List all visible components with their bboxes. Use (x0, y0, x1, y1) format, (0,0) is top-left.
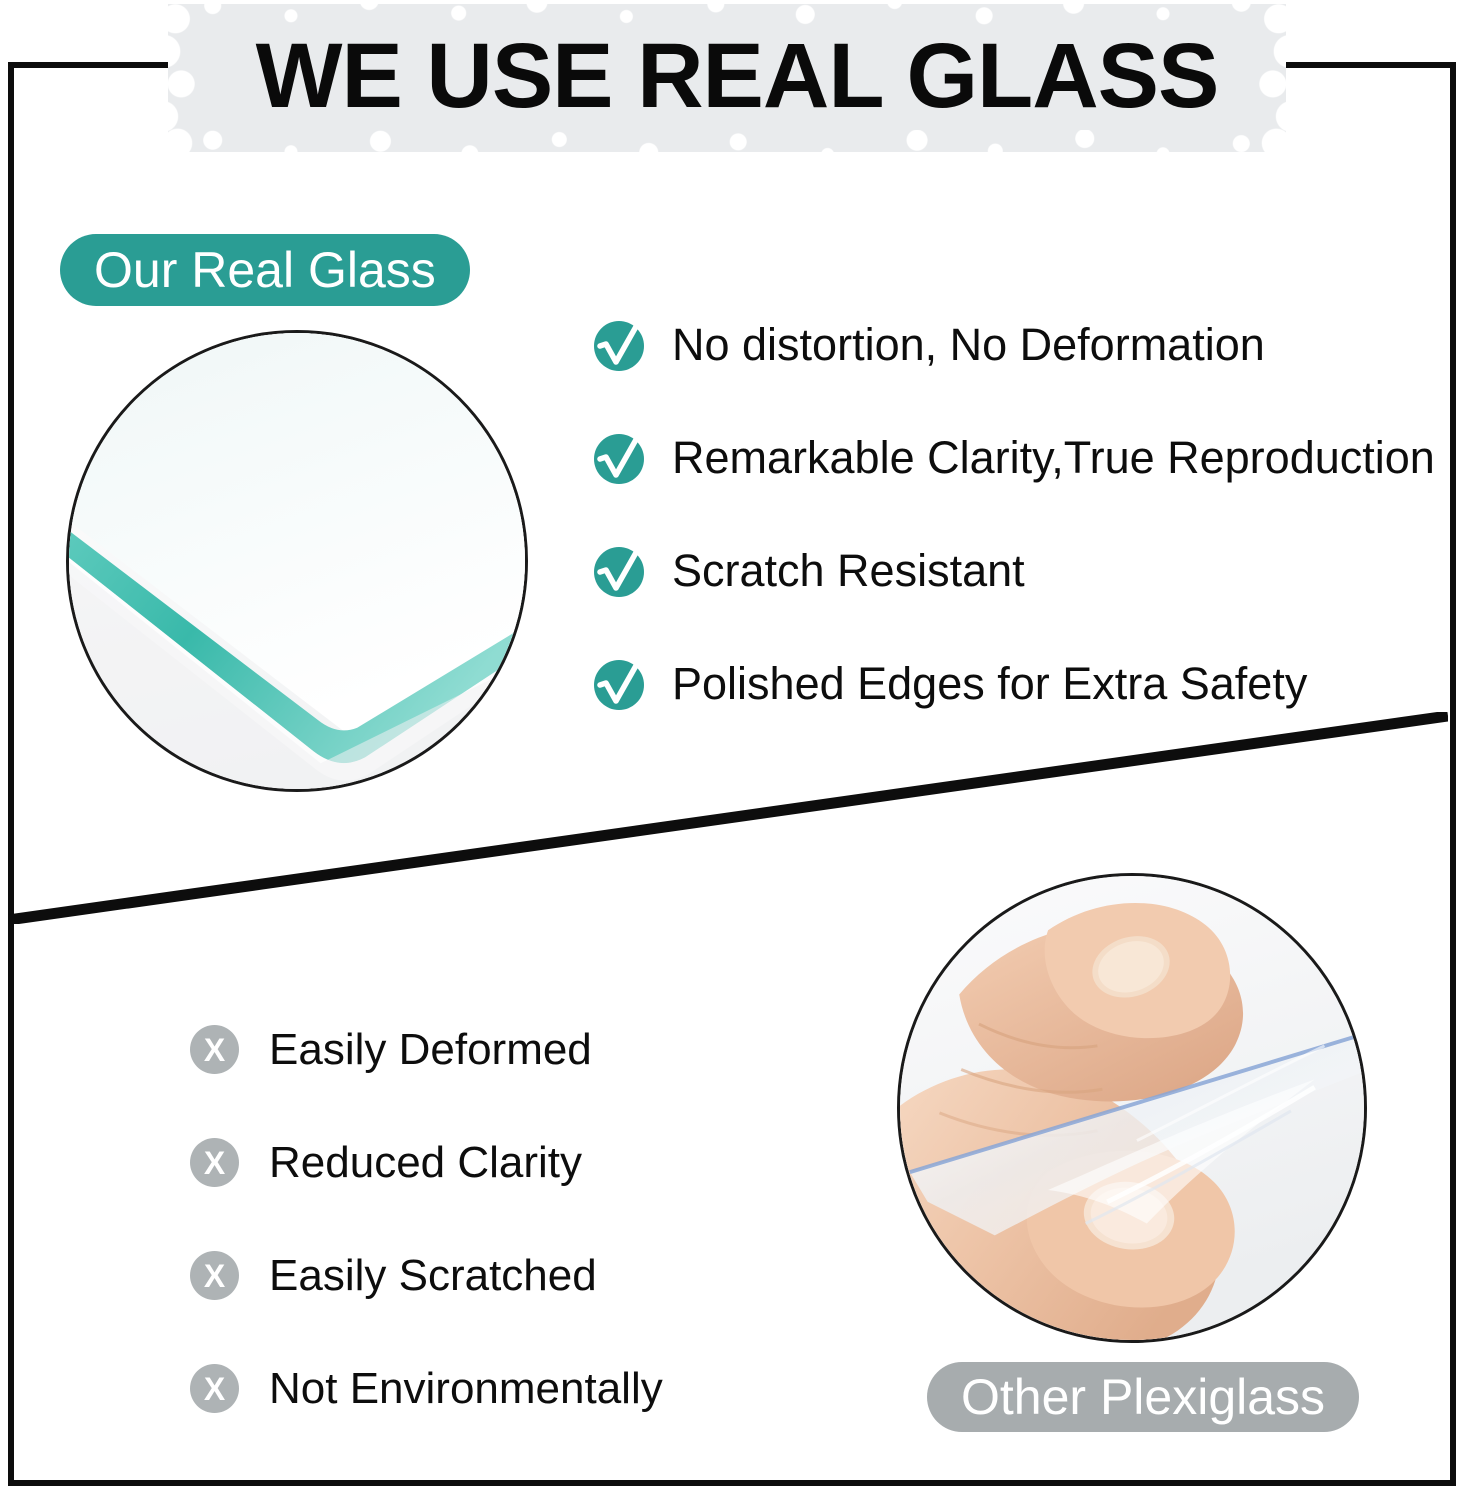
real-glass-illustration (69, 333, 525, 789)
x-circle-icon: X (190, 1025, 239, 1074)
list-item: X Easily Deformed (190, 993, 663, 1106)
list-item: X Not Environmentally (190, 1332, 663, 1445)
check-circle-icon (592, 657, 646, 711)
real-glass-photo (66, 330, 528, 792)
plexiglass-illustration (900, 876, 1364, 1340)
list-item-label: Reduced Clarity (269, 1141, 582, 1185)
list-item: Remarkable Clarity,True Reproduction (592, 401, 1435, 514)
list-item-label: No distortion, No Deformation (672, 322, 1265, 367)
check-circle-icon (592, 544, 646, 598)
x-circle-icon: X (190, 1364, 239, 1413)
x-circle-icon: X (190, 1251, 239, 1300)
list-item-label: Scratch Resistant (672, 548, 1025, 593)
x-circle-icon: X (190, 1138, 239, 1187)
badge-other-plexiglass: Other Plexiglass (927, 1362, 1359, 1432)
badge-our-real-glass: Our Real Glass (60, 234, 470, 306)
list-item: X Easily Scratched (190, 1219, 663, 1332)
plexiglass-photo (897, 873, 1367, 1343)
advantages-list: No distortion, No Deformation Remarkable… (592, 288, 1435, 740)
list-item: No distortion, No Deformation (592, 288, 1435, 401)
check-circle-icon (592, 318, 646, 372)
list-item-label: Not Environmentally (269, 1367, 663, 1411)
list-item-label: Remarkable Clarity,True Reproduction (672, 435, 1435, 480)
list-item-label: Easily Scratched (269, 1254, 597, 1298)
list-item: Scratch Resistant (592, 514, 1435, 627)
check-circle-icon (592, 431, 646, 485)
list-item: X Reduced Clarity (190, 1106, 663, 1219)
page-title: WE USE REAL GLASS (0, 30, 1474, 122)
list-item: Polished Edges for Extra Safety (592, 627, 1435, 740)
disadvantages-list: X Easily Deformed X Reduced Clarity X Ea… (190, 993, 663, 1445)
list-item-label: Polished Edges for Extra Safety (672, 661, 1307, 706)
list-item-label: Easily Deformed (269, 1028, 592, 1072)
infographic-root: WE USE REAL GLASS Our Real Glass (0, 0, 1474, 1500)
